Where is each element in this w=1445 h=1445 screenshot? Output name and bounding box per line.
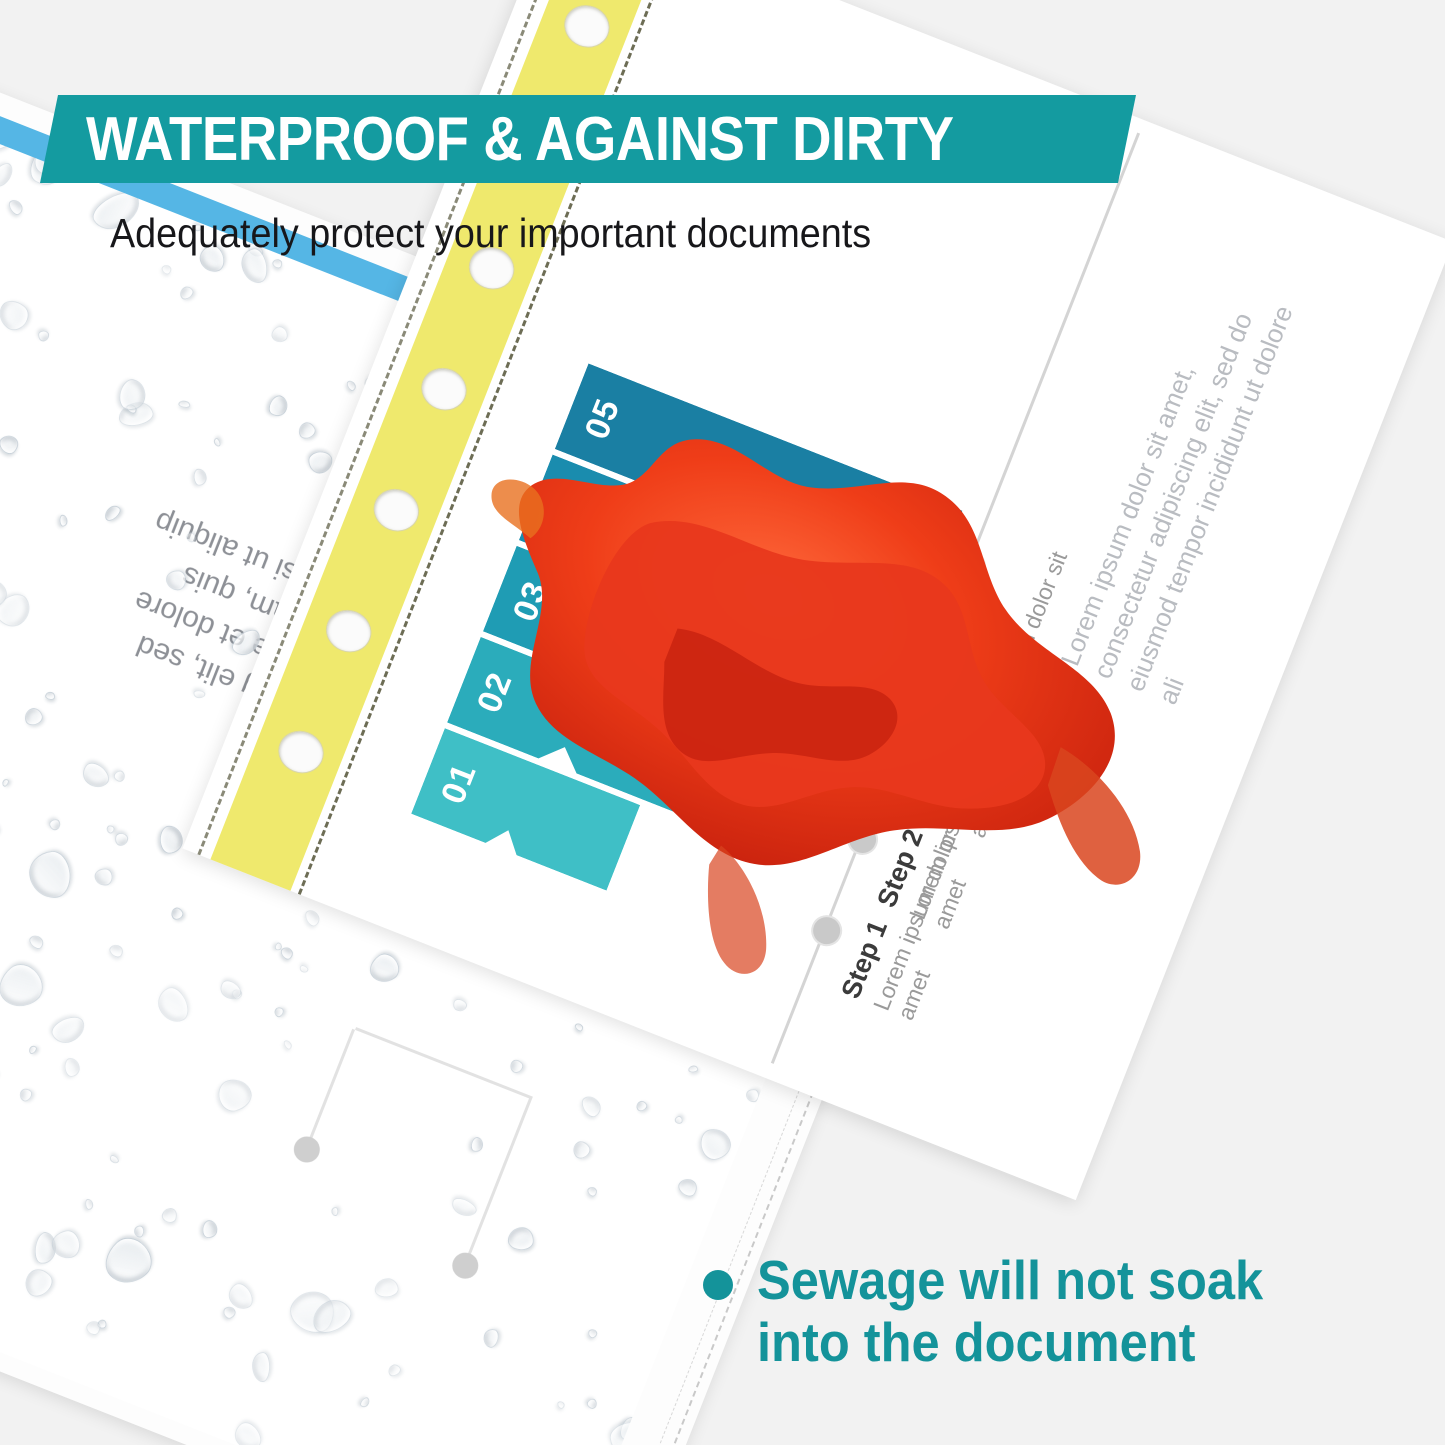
bullet-dot-icon: [703, 1270, 733, 1300]
connector-node: [290, 1133, 324, 1167]
chart-bar-label: 02: [470, 666, 521, 717]
callout-line-2: into the document: [757, 1312, 1263, 1374]
chart-bar-label: 04: [542, 484, 593, 535]
product-image-canvas: Step 2 ☆ Lorem ipsum dolor sit dolor sit…: [0, 0, 1445, 1445]
chart-bar-label: 05: [578, 393, 629, 444]
callout-line-1: Sewage will not soak: [757, 1250, 1263, 1312]
chart-bar-label: 03: [506, 575, 557, 626]
chart-timeline-node: [914, 637, 954, 677]
header-banner: WATERPROOF & AGAINST DIRTY: [16, 95, 1136, 183]
callout-text: Sewage will not soak into the document: [757, 1250, 1263, 1373]
chart-timeline-node: [950, 546, 990, 586]
chart-timeline-node: [878, 728, 918, 768]
chart-bar-label: 01: [434, 758, 485, 809]
connector-node: [448, 1249, 482, 1283]
chart-timeline-node: [842, 819, 882, 859]
header-subtitle: Adequately protect your important docume…: [110, 210, 956, 257]
callout-sewage: Sewage will not soak into the document: [703, 1250, 1403, 1373]
banner-title: WATERPROOF & AGAINST DIRTY: [86, 104, 954, 175]
chart-timeline-node: [807, 911, 847, 951]
